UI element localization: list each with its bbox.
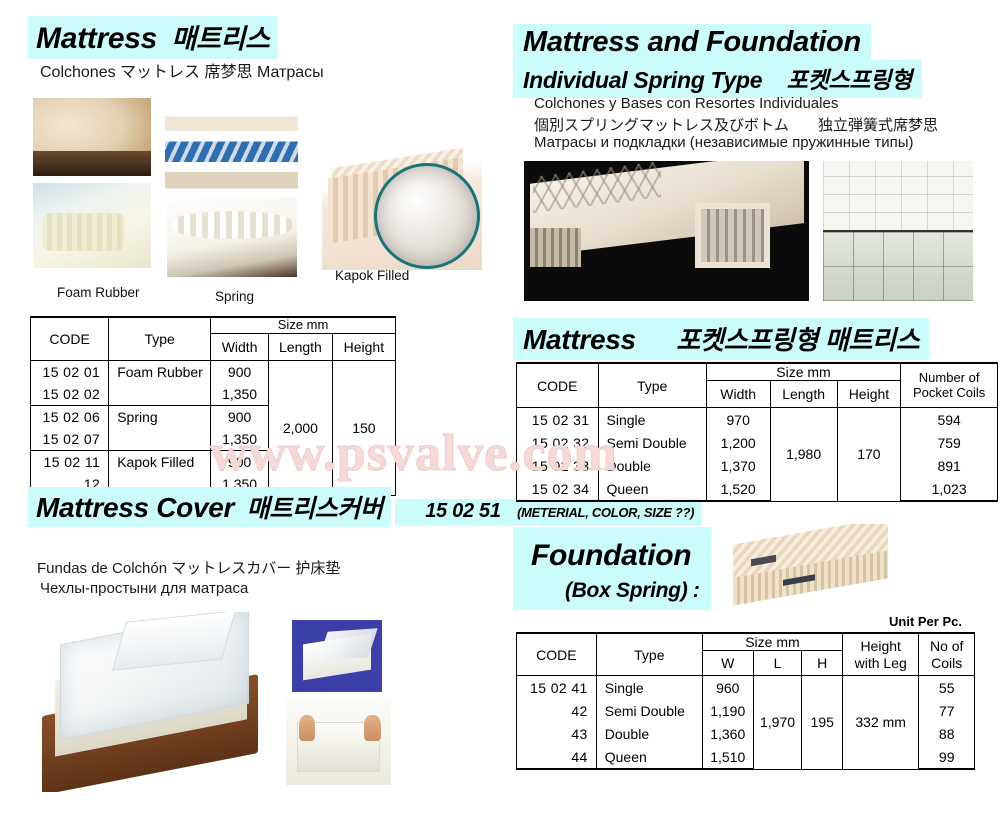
pocket-mattress-table: CODE Type Size mm Number of Pocket Coils… — [516, 362, 998, 502]
cell-width: 900 — [211, 360, 269, 383]
mattress-title-bar: Mattress 매트리스 — [28, 16, 278, 59]
mattress-cover-title-en: Mattress Cover — [36, 492, 234, 523]
mattress-title-ko: 매트리스 — [171, 24, 269, 54]
cell-code: 15 02 34 — [517, 477, 599, 501]
table-header-row: CODE Type Size mm Number of Pocket Coils — [517, 363, 998, 381]
mattress-pocket-title-bar: Mattress 포켓스프링형 매트리스 — [513, 318, 929, 360]
cell-height-with-leg-shared: 332 mm — [842, 676, 918, 770]
cell-type — [109, 428, 211, 451]
th-height-with-leg-line1: Height — [860, 638, 900, 654]
photo-mattress-cutaway — [524, 161, 809, 301]
pocket-mattress-title-en: Mattress — [523, 324, 636, 355]
rc-subtitle-es: Colchones y Bases con Resortes Individua… — [534, 95, 838, 112]
cell-coils: 891 — [901, 454, 998, 477]
cell-type: Foam Rubber — [109, 360, 211, 383]
cell-type: Kapok Filled — [109, 450, 211, 473]
pocket-mattress-title-ko: 포켓스프링형 매트리스 — [676, 325, 919, 355]
photo-cover-hands — [286, 700, 391, 785]
table-header-row: CODE Type Size mm Height with Leg No of … — [517, 633, 975, 651]
th-pocket-coils-line2: Pocket Coils — [913, 385, 985, 400]
cell-type: Single — [596, 676, 702, 700]
th-code: CODE — [517, 363, 599, 408]
mattress-cover-title-ko: 매트리스커버 — [247, 495, 383, 523]
cell-type: Single — [598, 408, 706, 432]
th-pocket-coils: Number of Pocket Coils — [901, 363, 998, 408]
cell-code: 15 02 07 — [31, 428, 109, 451]
photo-foam-rubber-slab — [33, 183, 151, 268]
th-length: Length — [770, 381, 837, 408]
th-no-of-coils: No of Coils — [919, 633, 975, 676]
photo-cover-on-bed — [35, 612, 281, 792]
cell-coils: 1,023 — [901, 477, 998, 501]
cell-code: 43 — [517, 722, 597, 745]
th-h: H — [802, 651, 842, 676]
table-row: 15 02 32 Semi Double 1,200 759 — [517, 431, 998, 454]
cell-w: 1,190 — [702, 699, 753, 722]
cell-code: 15 02 11 — [31, 450, 109, 473]
th-width: Width — [211, 333, 269, 360]
cell-type: Queen — [596, 745, 702, 769]
cell-type: Semi Double — [596, 699, 702, 722]
rc-title-line2-en: Individual Spring Type — [523, 67, 762, 93]
rc-title-line2-ko: 포켓스프링형 — [787, 67, 912, 93]
rc-subtitle-ja: 個別スプリングマットレス及びボトム — [534, 114, 789, 135]
photo-pocket-coils — [823, 161, 973, 301]
photo-spring-corner — [167, 197, 297, 277]
table-row: 15 02 41 Single 960 1,970 195 332 mm 55 — [517, 676, 975, 700]
th-pocket-coils-line1: Number of — [919, 370, 980, 385]
mattress-cover-code: 15 02 51 — [425, 500, 500, 522]
cell-code: 15 02 02 — [31, 383, 109, 406]
cell-width: 1,520 — [706, 477, 770, 501]
rc-subtitle-ru: Матрасы и подкладки (независимые пружинн… — [534, 134, 914, 151]
cell-width: 1,370 — [706, 454, 770, 477]
foundation-title-bar: Foundation (Box Spring) : — [513, 527, 711, 610]
mattress-size-table: CODE Type Size mm Width Length Height 15… — [30, 316, 396, 497]
cell-width: 1,350 — [211, 428, 269, 451]
th-height: Height — [332, 333, 395, 360]
caption-kapok: Kapok Filled — [335, 268, 409, 283]
rc-subtitle-zh: 独立弾簧式席梦思 — [818, 114, 938, 135]
rc-title-line1: Mattress and Foundation — [523, 26, 861, 58]
cell-coils: 594 — [901, 408, 998, 432]
cell-w: 1,360 — [702, 722, 753, 745]
cell-height-shared: 150 — [332, 360, 395, 496]
th-height-with-leg-line2: with Leg — [855, 655, 907, 671]
foundation-subtitle: (Box Spring) : — [565, 579, 700, 603]
cell-code: 44 — [517, 745, 597, 769]
caption-spring: Spring — [215, 289, 254, 304]
cell-code: 15 02 31 — [517, 408, 599, 432]
cell-type — [109, 383, 211, 406]
photo-foundation-box-spring — [722, 524, 902, 616]
th-height-with-leg: Height with Leg — [842, 633, 918, 676]
cell-coils: 759 — [901, 431, 998, 454]
mattress-cover-subtitle-2: Чехлы-простыни для матраса — [40, 580, 248, 597]
cell-type: Double — [596, 722, 702, 745]
th-w: W — [702, 651, 753, 676]
cell-height-shared: 170 — [837, 408, 901, 502]
foundation-table: CODE Type Size mm Height with Leg No of … — [516, 632, 975, 770]
th-size: Size mm — [702, 633, 842, 651]
table-row: 15 02 31 Single 970 1,980 170 594 — [517, 408, 998, 432]
cell-w: 960 — [702, 676, 753, 700]
table-row: 15 02 01 Foam Rubber 900 2,000 150 — [31, 360, 396, 383]
cell-width: 900 — [211, 405, 269, 428]
photo-kapok-mattress — [322, 145, 482, 270]
mattress-foundation-title-bar: Mattress and Foundation Individual Sprin… — [513, 24, 1002, 98]
th-code: CODE — [517, 633, 597, 676]
cell-type: Queen — [598, 477, 706, 501]
cell-width: 970 — [706, 408, 770, 432]
foundation-title-en: Foundation — [531, 539, 691, 573]
cell-coils: 77 — [919, 699, 975, 722]
cell-coils: 99 — [919, 745, 975, 769]
table-row: 15 02 33 Double 1,370 891 — [517, 454, 998, 477]
cell-code: 15 02 41 — [517, 676, 597, 700]
cell-code: 15 02 06 — [31, 405, 109, 428]
cell-code: 15 02 01 — [31, 360, 109, 383]
th-l: L — [753, 651, 802, 676]
th-no-of-coils-line2: Coils — [931, 655, 962, 671]
caption-foam-rubber: Foam Rubber — [57, 285, 140, 300]
cell-code: 15 02 33 — [517, 454, 599, 477]
th-code: CODE — [31, 317, 109, 360]
th-length: Length — [269, 333, 333, 360]
cell-length-shared: 1,980 — [770, 408, 837, 502]
cell-code: 15 02 32 — [517, 431, 599, 454]
th-type: Type — [596, 633, 702, 676]
cell-coils: 55 — [919, 676, 975, 700]
th-size: Size mm — [211, 317, 396, 333]
catalog-page: www.psvalve.com Mattress 매트리스 Colchones … — [0, 0, 1002, 814]
th-type: Type — [598, 363, 706, 408]
mattress-cover-code-note: (METERIAL, COLOR, SIZE ??) — [517, 505, 694, 520]
cell-code: 42 — [517, 699, 597, 722]
table-header-row: CODE Type Size mm — [31, 317, 396, 333]
cell-h-shared: 195 — [802, 676, 842, 770]
cell-type: Semi Double — [598, 431, 706, 454]
mattress-subtitle: Colchones マットレス 席梦思 Матрасы — [40, 58, 324, 82]
unit-per-pc-note: Unit Per Pc. — [889, 614, 962, 629]
th-type: Type — [109, 317, 211, 360]
th-width: Width — [706, 381, 770, 408]
cell-width: 1,350 — [211, 383, 269, 406]
photo-spring-layers — [165, 98, 298, 201]
cell-w: 1,510 — [702, 745, 753, 769]
th-height: Height — [837, 381, 901, 408]
cell-width: 900 — [211, 450, 269, 473]
cell-length-shared: 2,000 — [269, 360, 333, 496]
th-no-of-coils-line1: No of — [930, 638, 963, 654]
cell-type: Double — [598, 454, 706, 477]
mattress-cover-subtitle-1: Fundas de Colchón マットレスカバー 护床垫 — [37, 557, 340, 578]
table-row: 15 02 34 Queen 1,520 1,023 — [517, 477, 998, 501]
mattress-title-en: Mattress — [36, 22, 157, 55]
photo-foam-rubber-bed — [33, 98, 151, 176]
cell-coils: 88 — [919, 722, 975, 745]
th-size: Size mm — [706, 363, 901, 381]
cell-type: Spring — [109, 405, 211, 428]
photo-cover-blue-bg — [292, 620, 382, 692]
cell-l-shared: 1,970 — [753, 676, 802, 770]
cell-width: 1,200 — [706, 431, 770, 454]
